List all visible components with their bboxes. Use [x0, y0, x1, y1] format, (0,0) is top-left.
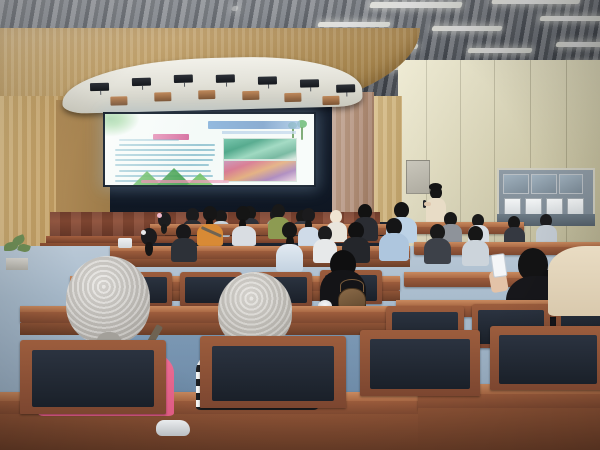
ceiling-strip-light — [231, 6, 238, 11]
ceiling-strip-light — [317, 22, 390, 27]
ceiling-strip-light — [431, 26, 502, 31]
shoe — [156, 420, 190, 436]
stage-light-fixture — [322, 96, 339, 105]
hair-bow — [157, 213, 162, 218]
plant-pot — [6, 258, 28, 270]
stage-light-fixture — [258, 76, 277, 84]
ceiling-strip-light — [539, 16, 600, 21]
projection-screen: 端午节的习俗 Customs of the Dragon Boat Festiv… — [105, 114, 314, 185]
slide-mountain-icon — [187, 173, 213, 185]
stage-light-fixture — [110, 96, 127, 105]
ceiling-strip-light — [555, 42, 600, 47]
foreground-desk-front — [0, 414, 420, 450]
stage-light-fixture — [300, 79, 319, 87]
foreground-seat-back — [20, 340, 166, 414]
slide-title-bar — [208, 121, 300, 129]
smartphone-icon — [490, 253, 507, 278]
ceiling-strip-light — [491, 0, 581, 4]
stage-light-fixture — [154, 92, 171, 101]
wall-control-plate[interactable] — [406, 160, 430, 194]
stage-light-fixture — [242, 91, 259, 100]
stage-right-wood-panel — [332, 92, 374, 220]
ceiling-strip-light — [467, 48, 532, 53]
foreground-desk-front — [418, 408, 600, 450]
foreground-seat-back — [490, 326, 600, 390]
foreground-seat-back — [360, 330, 480, 396]
stage-light-fixture — [90, 83, 109, 91]
stage-light-fixture — [216, 74, 235, 82]
foreground-seat-back — [200, 336, 346, 408]
auditorium-scene: 端午节的习俗 Customs of the Dragon Boat Festiv… — [0, 0, 600, 450]
stage-light-fixture — [132, 78, 151, 86]
stage-light-fixture — [174, 75, 193, 83]
curled-hair-texture — [66, 256, 150, 344]
slide-subtitle-bar — [222, 131, 296, 134]
handbag-strap — [340, 279, 364, 292]
slide-photo-festival-crowd — [223, 160, 297, 182]
slide-ribbon-decoration — [141, 180, 229, 183]
slide-bamboo-corner-icon — [105, 114, 145, 140]
slide-photo-dragon-boat-river — [223, 138, 297, 160]
ceiling-strip-light — [369, 2, 463, 8]
stage-light-fixture — [198, 90, 215, 99]
stage-light-fixture — [284, 93, 301, 102]
white-tote-bag — [118, 238, 132, 248]
stage-light-fixture — [336, 84, 355, 92]
